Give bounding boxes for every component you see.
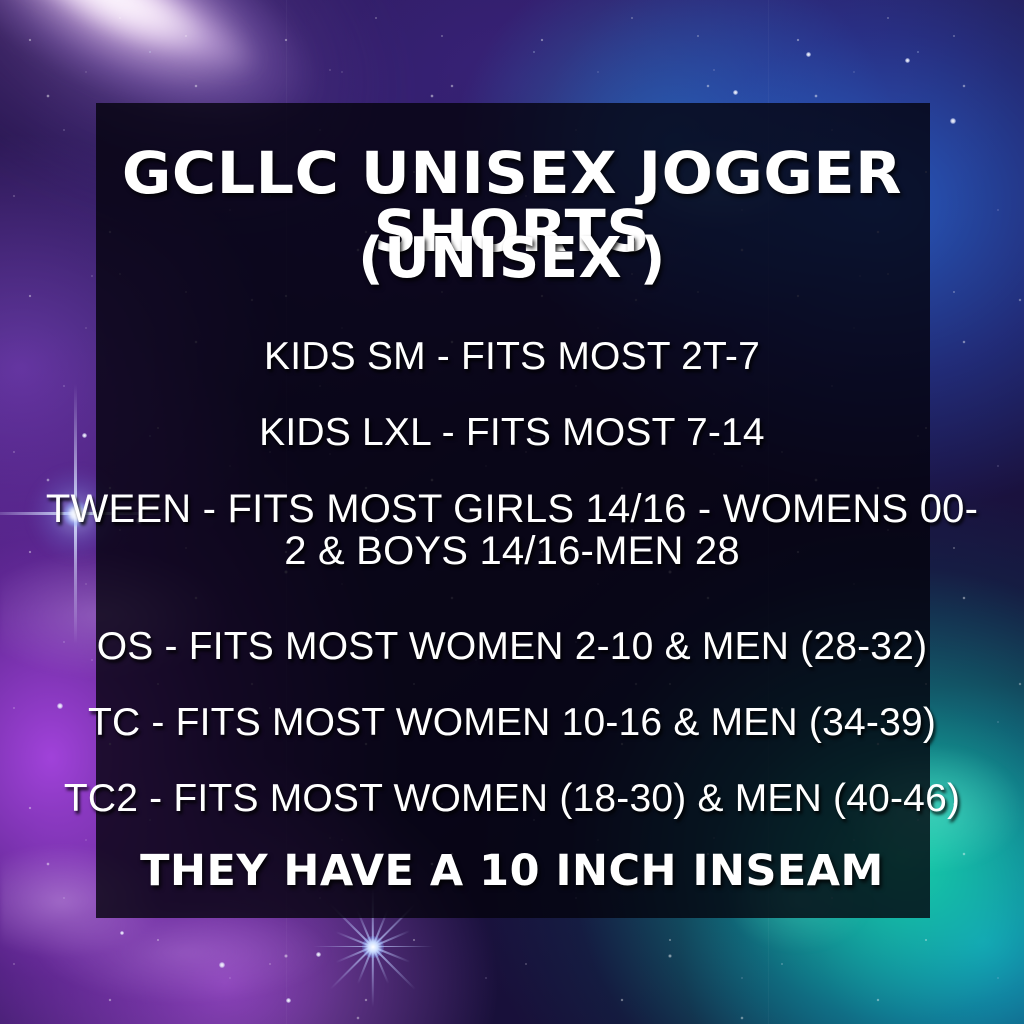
page-subtitle: (UNISEX') [0,231,1024,287]
size-line-kids-lxl: KIDS LXL - FITS MOST 7-14 [40,412,984,453]
size-line-kids-sm: KIDS SM - FITS MOST 2T-7 [40,336,984,377]
size-line-tc2: TC2 - FITS MOST WOMEN (18-30) & MEN (40-… [40,778,984,819]
inseam-note: THEY HAVE A 10 INCH INSEAM [0,850,1024,893]
size-line-tc: TC - FITS MOST WOMEN 10-16 & MEN (34-39) [40,702,984,743]
size-line-tween: TWEEN - FITS MOST GIRLS 14/16 - WOMENS 0… [40,488,984,573]
size-chart-text: GCLLC UNISEX JOGGER SHORTS (UNISEX') KID… [0,0,1024,1024]
size-line-os: OS - FITS MOST WOMEN 2-10 & MEN (28-32) [40,626,984,667]
galaxy-size-chart-graphic: GCLLC UNISEX JOGGER SHORTS (UNISEX') KID… [0,0,1024,1024]
